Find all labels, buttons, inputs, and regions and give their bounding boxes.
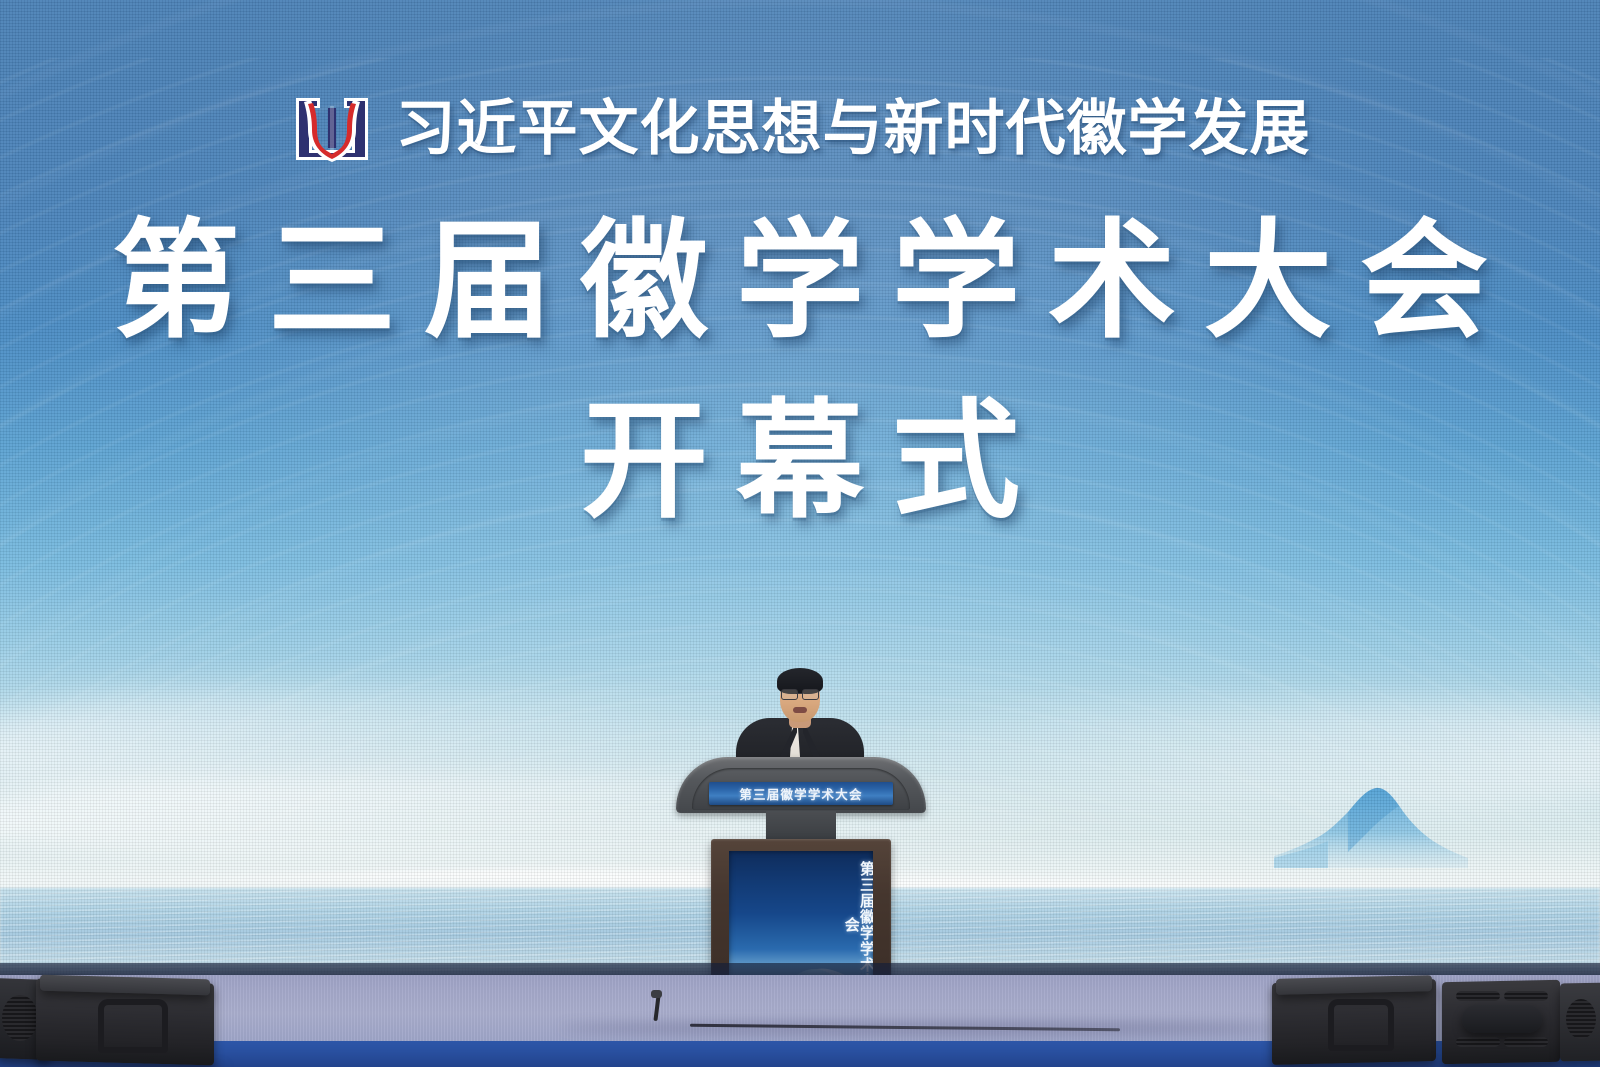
eyeglasses-icon xyxy=(781,689,819,698)
speaker-mouth xyxy=(793,707,807,713)
mist-band-right-upper xyxy=(830,700,1600,810)
lectern-nameplate-text: 第三届徽学学术大会 xyxy=(739,784,862,803)
mist-band-left-lower xyxy=(0,775,1150,861)
lectern-nameplate: 第三届徽学学术大会 xyxy=(709,782,893,805)
floor-microphone-head xyxy=(651,990,662,998)
ink-wash-mountain-graphic xyxy=(1262,778,1472,868)
lectern-neck xyxy=(766,811,836,841)
conference-stage-photo: 习近平文化思想与新时代徽学发展 第三届徽学学术大会 开幕式 第三届徽学学术大会 … xyxy=(0,0,1600,1067)
